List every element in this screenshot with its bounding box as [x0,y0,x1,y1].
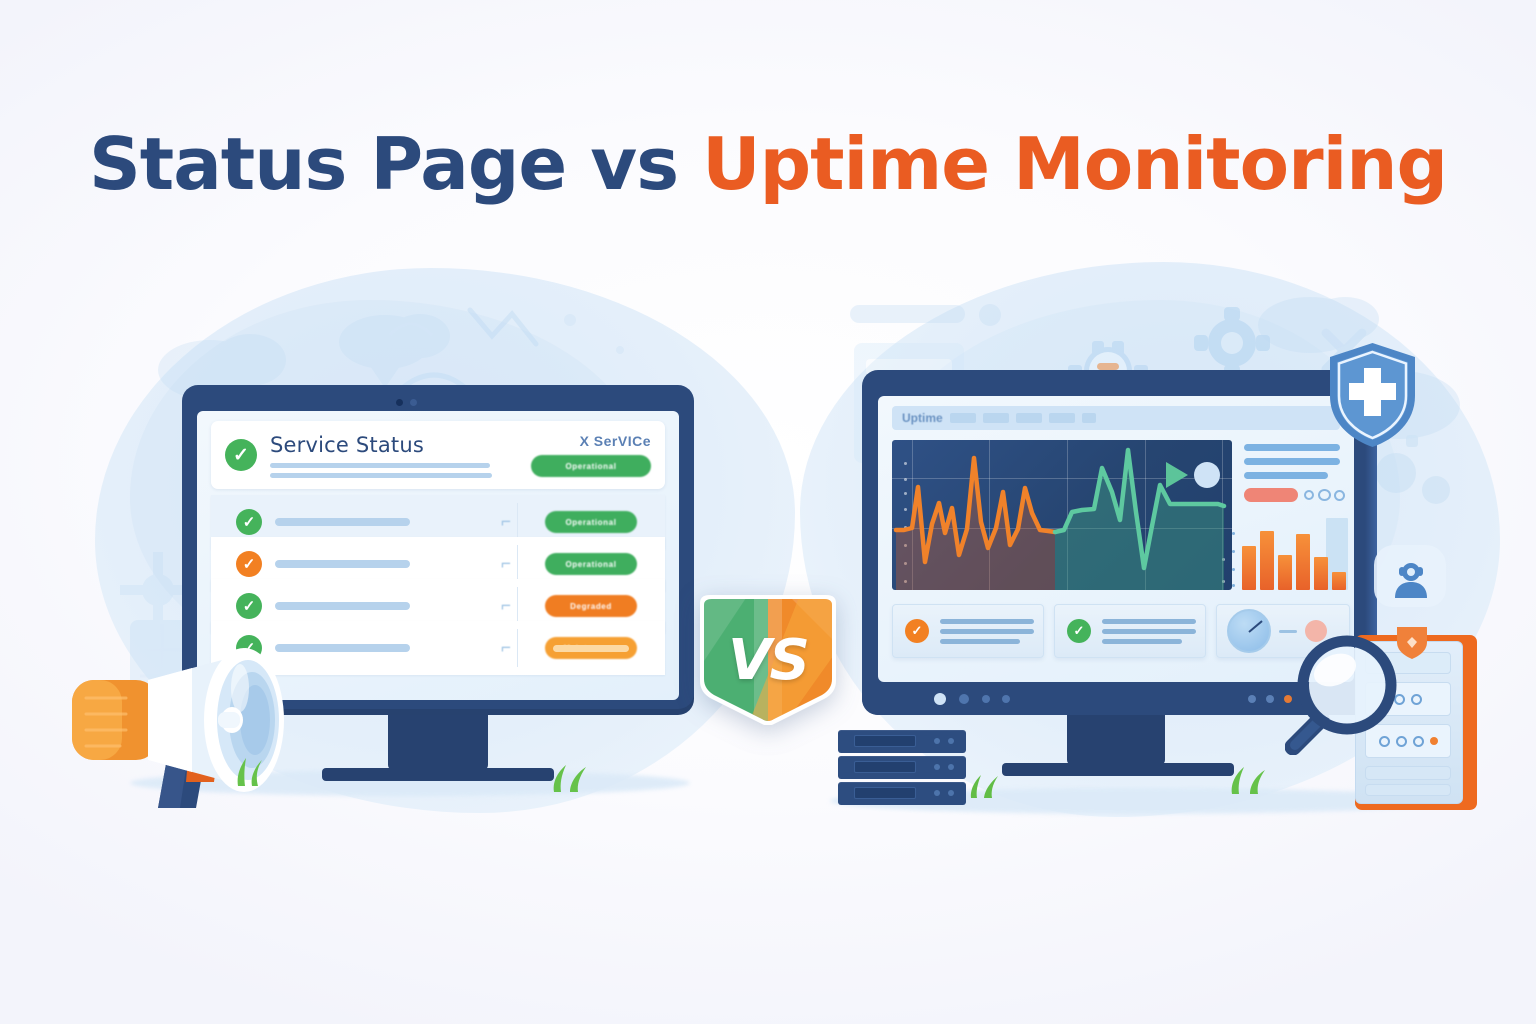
status-ring-icon [1318,489,1331,501]
dashboard-topbar-label: Uptime [902,411,943,425]
magnifier-icon [1285,625,1415,755]
check-circle-icon: ✓ [236,593,262,619]
row-status-badge[interactable]: Degraded [545,595,637,617]
side-line [1244,472,1328,479]
bar [1242,546,1256,590]
status-ring-icon [1304,490,1314,500]
title-orange-segment: Uptime Monitoring [702,122,1447,206]
row-glyph: ⌐ [501,512,511,532]
bar [1278,555,1292,590]
check-circle-icon: ✓ [905,619,929,643]
topbar-segment [983,413,1009,423]
status-ring-icon [1334,490,1345,501]
play-triangle-icon[interactable] [1166,462,1188,488]
shield-plus-icon [1325,340,1420,450]
row-label-bar [275,602,410,610]
card-line [1102,639,1182,644]
bar-tick [1232,568,1235,571]
gauge-icon [1227,609,1271,653]
header-line-1 [270,463,490,468]
status-card[interactable]: ✓ [1054,604,1206,658]
topbar-segment [1049,413,1075,423]
bar [1332,572,1346,590]
status-page-header-card: ✓ Service Status X SerVICe Operational [211,421,665,489]
row-label-bar [275,518,410,526]
row-status-badge[interactable]: Operational [545,511,637,533]
card-line [940,639,1020,644]
check-circle-icon: ✓ [225,439,257,471]
card-line [1102,629,1196,634]
server-slot [854,787,916,799]
header-status-badge[interactable]: Operational [531,455,651,477]
card-line [940,629,1034,634]
row-divider [517,587,518,625]
card-lines [1102,619,1196,644]
check-circle-icon: ✓ [1067,619,1091,643]
row-glyph: ⌐ [501,638,511,658]
grass-decor [1226,762,1272,794]
illustration-canvas: Status Page vs Uptime Monitoring [0,0,1536,1024]
grass-decor [232,752,274,786]
page-title: Status Page vs Uptime Monitoring [0,128,1536,200]
card-line [1102,619,1196,624]
uptime-dashboard-screen: Uptime [878,396,1354,682]
server-led-icon [934,738,940,744]
side-line [1244,458,1340,465]
monitor-neck-left [388,715,488,770]
monitor-neck-right [1067,715,1165,765]
grass-decor [548,760,594,792]
megaphone-icon [62,636,332,816]
server-unit [838,782,966,805]
status-page-title: Service Status [270,433,531,457]
row-status-badge[interactable]: Operational [545,553,637,575]
monitor-base-right [1002,763,1234,776]
server-led-icon [948,790,954,796]
server-slot [854,735,916,747]
uptime-line-chart[interactable] [892,440,1232,590]
server-unit [838,730,966,753]
webcam-led-icon [410,399,417,406]
row-glyph: ⌐ [501,596,511,616]
server-led-icon [934,790,940,796]
row-divider [517,503,518,541]
vs-label: VS [688,595,848,725]
server-bay [1365,784,1451,796]
support-agent-icon [1391,560,1431,598]
bar [1260,531,1274,590]
row-glyph: ⌐ [501,554,511,574]
monitor-chin-dots [932,692,1302,706]
monitor-base-left [322,768,554,781]
server-stack-icon [838,730,966,810]
bar [1314,557,1328,590]
vs-badge: VS [688,595,848,725]
card-lines [940,619,1034,644]
server-bay [1365,766,1451,780]
row-divider [517,545,518,583]
gauge-needle-icon [1248,620,1262,632]
dashboard-topbar[interactable]: Uptime [892,406,1340,430]
row-divider [517,629,518,667]
bar [1296,534,1310,590]
bar-tick [1232,584,1235,587]
status-page-brand: X SerVICe [580,433,651,449]
check-circle-icon: ✓ [236,509,262,535]
bar-tick [1232,532,1235,535]
status-dot-icon [1194,462,1220,488]
server-led-icon [948,738,954,744]
title-blue-segment: Status Page vs [89,122,702,206]
alert-pill[interactable] [1244,488,1298,502]
header-line-2 [270,473,492,478]
server-unit [838,756,966,779]
server-led-icon [934,764,940,770]
topbar-segment [1016,413,1042,423]
server-led-icon [948,764,954,770]
bay-status-dot [1430,737,1438,745]
topbar-segment [950,413,976,423]
status-card[interactable]: ✓ [892,604,1044,658]
row-badge-inner-pill [553,645,629,652]
uptime-bar-chart[interactable] [1240,514,1350,590]
check-circle-icon: ✓ [236,551,262,577]
bar-tick [1232,550,1235,553]
card-line [940,619,1034,624]
row-label-bar [275,560,410,568]
webcam-icon [396,399,403,406]
grass-decor [966,770,1006,798]
topbar-segment [1082,413,1096,423]
server-slot [854,761,916,773]
